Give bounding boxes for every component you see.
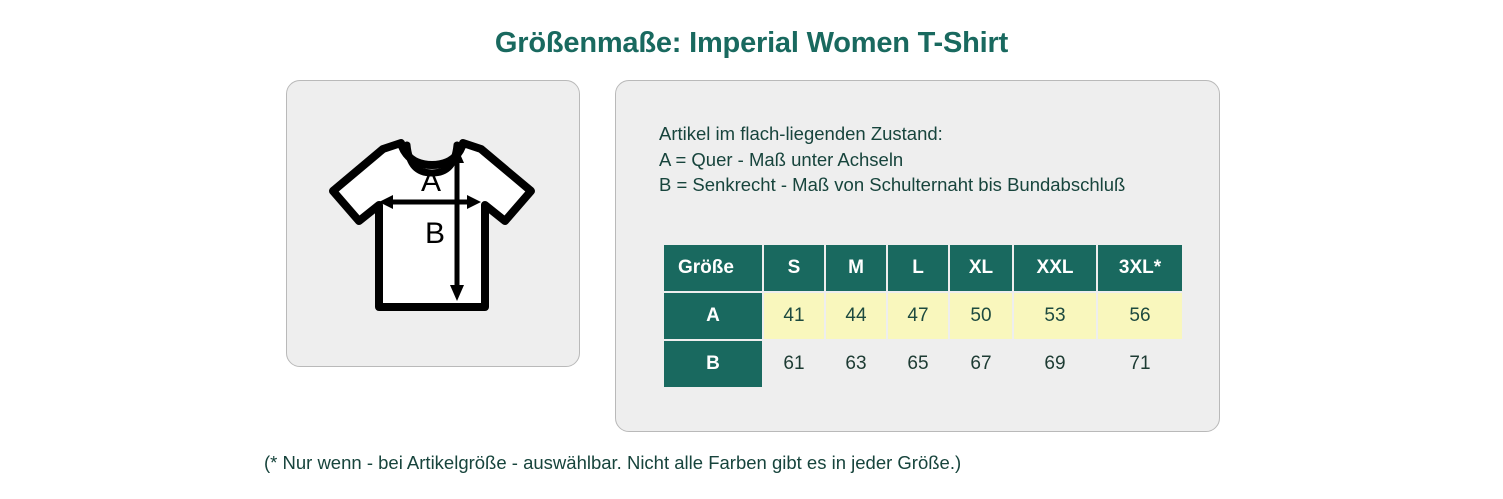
- description-line-2: A = Quer - Maß unter Achseln: [659, 147, 1125, 173]
- measurement-description: Artikel im flach-liegenden Zustand: A = …: [659, 121, 1125, 198]
- cell-b-l: 65: [888, 341, 948, 387]
- cell-b-m: 63: [826, 341, 886, 387]
- cell-a-l: 47: [888, 293, 948, 339]
- diagram-label-b: B: [425, 217, 445, 250]
- footnote: (* Nur wenn - bei Artikelgröße - auswähl…: [264, 452, 961, 474]
- cell-b-xl: 67: [950, 341, 1012, 387]
- cell-a-m: 44: [826, 293, 886, 339]
- cell-a-s: 41: [764, 293, 824, 339]
- size-chart-page: Größenmaße: Imperial Women T-Shirt: [0, 0, 1503, 499]
- table-header-xxl: XXL: [1014, 245, 1096, 291]
- row-label-b: B: [664, 341, 762, 387]
- table-header-3xl: 3XL*: [1098, 245, 1182, 291]
- cell-a-xxl: 53: [1014, 293, 1096, 339]
- table-row: B 61 63 65 67 69 71: [664, 341, 1182, 387]
- table-header-m: M: [826, 245, 886, 291]
- table-header-row: Größe S M L XL XXL 3XL*: [664, 245, 1182, 291]
- product-diagram-panel: A B: [286, 80, 580, 367]
- size-table: Größe S M L XL XXL 3XL* A 41 44 47 50 53…: [662, 243, 1184, 389]
- cell-b-xxl: 69: [1014, 341, 1096, 387]
- cell-a-xl: 50: [950, 293, 1012, 339]
- description-line-1: Artikel im flach-liegenden Zustand:: [659, 121, 1125, 147]
- table-header-s: S: [764, 245, 824, 291]
- cell-b-s: 61: [764, 341, 824, 387]
- row-label-a: A: [664, 293, 762, 339]
- cell-a-3xl: 56: [1098, 293, 1182, 339]
- table-header-size: Größe: [664, 245, 762, 291]
- table-header-l: L: [888, 245, 948, 291]
- tshirt-icon: A B: [323, 125, 545, 325]
- page-title: Größenmaße: Imperial Women T-Shirt: [0, 27, 1503, 60]
- description-line-3: B = Senkrecht - Maß von Schulternaht bis…: [659, 172, 1125, 198]
- table-header-xl: XL: [950, 245, 1012, 291]
- measurements-panel: Artikel im flach-liegenden Zustand: A = …: [615, 80, 1220, 432]
- table-row: A 41 44 47 50 53 56: [664, 293, 1182, 339]
- diagram-label-a: A: [421, 165, 441, 198]
- cell-b-3xl: 71: [1098, 341, 1182, 387]
